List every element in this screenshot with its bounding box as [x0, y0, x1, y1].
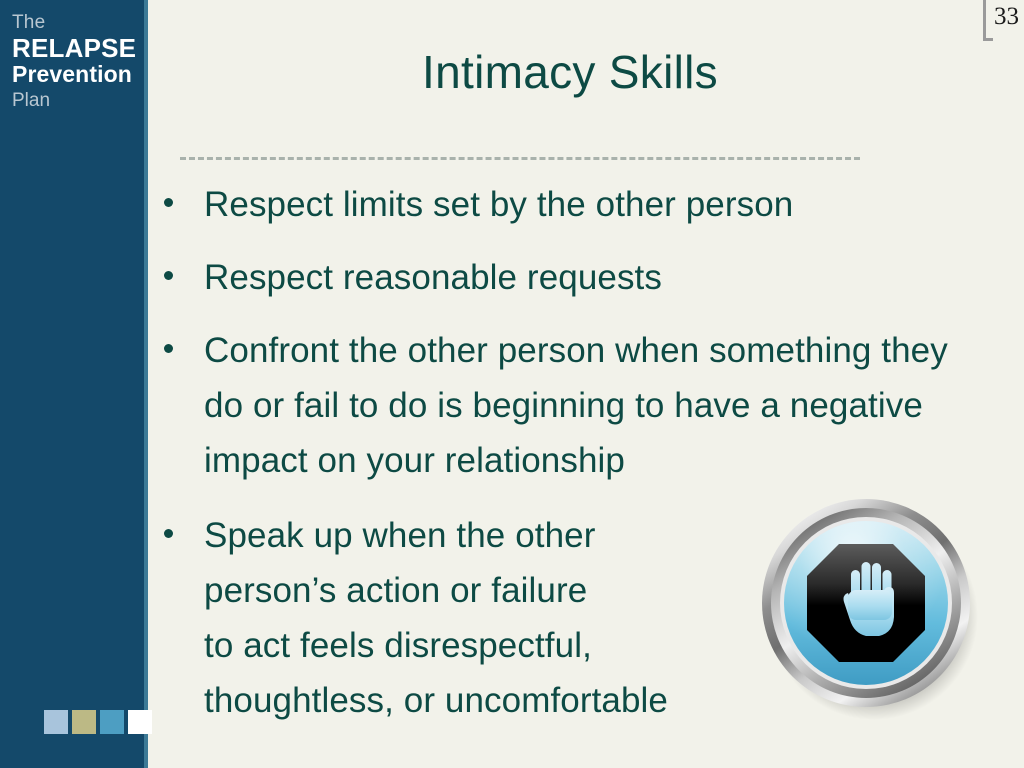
- bullet-dot-icon: [164, 344, 173, 353]
- logo-line-prevention: Prevention: [12, 62, 144, 88]
- list-item-text: Respect reasonable requests: [204, 251, 1008, 306]
- bullet-dot-icon: [164, 529, 173, 538]
- list-item-text: Respect limits set by the other person: [204, 178, 1008, 233]
- logo-line-relapse: RELAPSE: [12, 34, 144, 62]
- list-item-text: Confront the other person when something…: [204, 324, 1008, 489]
- page-number-box: 33: [983, 0, 1024, 38]
- bullet-dot-icon: [164, 271, 173, 280]
- square-light-blue: [44, 710, 68, 734]
- page-number: 33: [994, 4, 1019, 29]
- color-squares: [44, 710, 152, 734]
- square-khaki: [72, 710, 96, 734]
- divider: [180, 157, 860, 160]
- sidebar: [0, 0, 144, 768]
- bullet-dot-icon: [164, 198, 173, 207]
- brand-logo: The RELAPSE Prevention Plan: [12, 13, 144, 110]
- list-item: Respect reasonable requests: [158, 251, 1008, 306]
- logo-line-the: The: [12, 13, 144, 32]
- list-item: Respect limits set by the other person: [158, 178, 1008, 233]
- sidebar-edge-strip: [144, 0, 148, 768]
- stop-hand-button-icon: [752, 490, 984, 722]
- slide-canvas: The RELAPSE Prevention Plan 33 Intimacy …: [0, 0, 1024, 768]
- list-item: Confront the other person when something…: [158, 324, 1008, 489]
- logo-line-plan: Plan: [12, 91, 144, 110]
- square-white: [128, 710, 152, 734]
- square-blue: [100, 710, 124, 734]
- page-title: Intimacy Skills: [160, 45, 980, 99]
